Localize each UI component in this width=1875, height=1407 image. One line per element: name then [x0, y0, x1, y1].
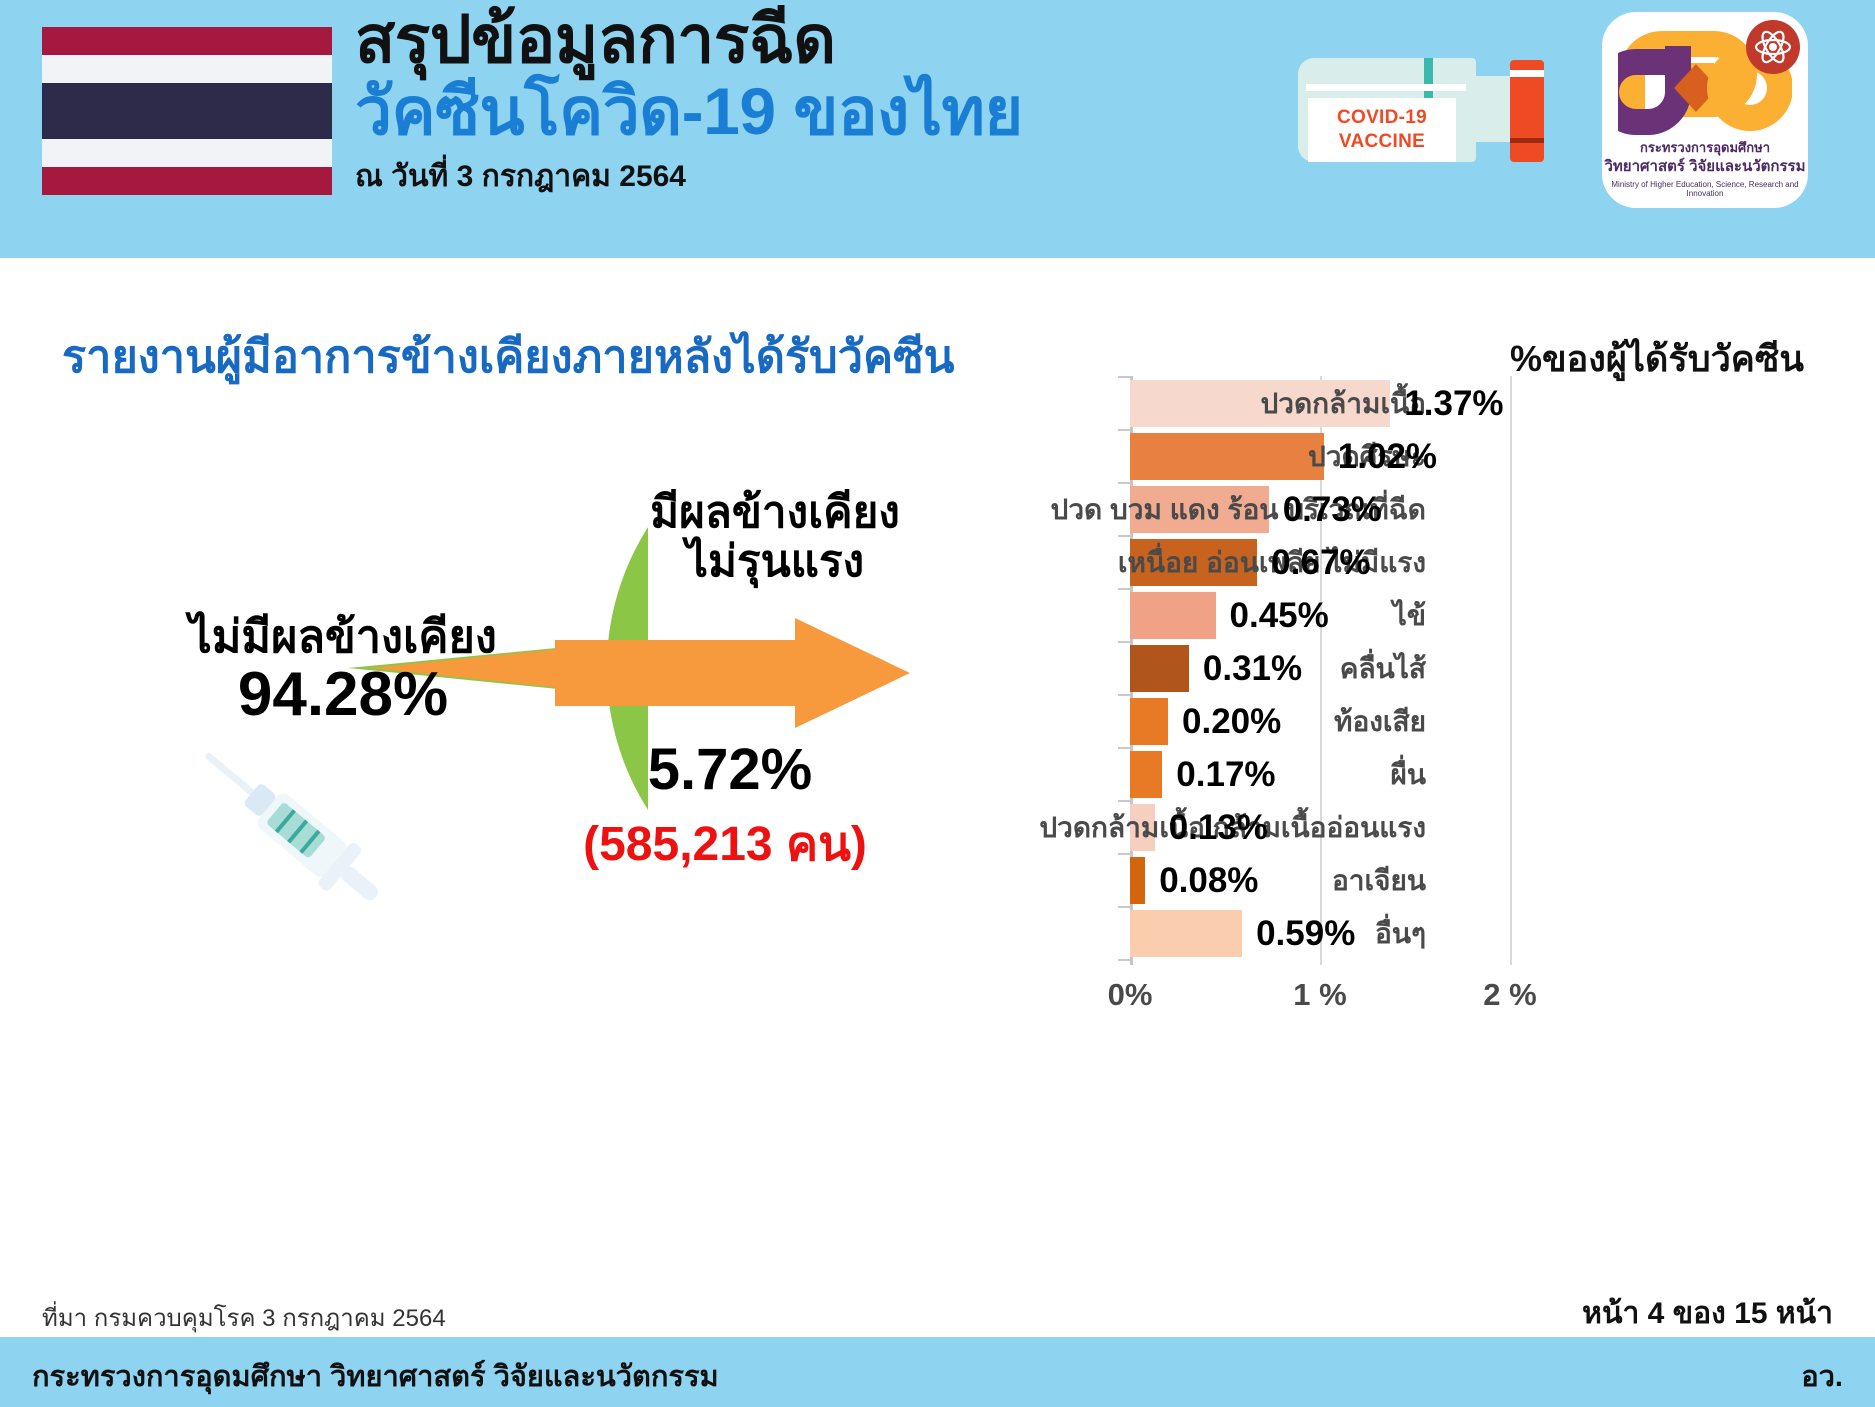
bar-category-label: ปวดกล้ามเนื้อ	[1261, 380, 1427, 427]
atom-icon	[1746, 20, 1800, 74]
bar-rect	[1130, 645, 1189, 692]
header-title-block: สรุปข้อมูลการฉีด วัคซีนโควิด-19 ของไทย ณ…	[355, 6, 1305, 200]
gridline	[1510, 376, 1512, 965]
side-effect-count: (585,213 คน)	[535, 806, 915, 882]
page-header: สรุปข้อมูลการฉีด วัคซีนโควิด-19 ของไทย ณ…	[0, 0, 1875, 258]
y-axis-tick	[1118, 853, 1130, 855]
bar-rect	[1130, 698, 1168, 745]
bar-value-label: 0.13%	[1169, 804, 1268, 851]
y-axis-tick	[1118, 429, 1130, 431]
vial-label-line1: COVID-19	[1337, 106, 1427, 130]
side-effect-label: มีผลข้างเคียง ไม่รุนแรง	[565, 488, 985, 587]
bar-rect	[1130, 433, 1324, 480]
y-axis-tick	[1118, 535, 1130, 537]
bar-value-label: 1.02%	[1338, 433, 1437, 480]
bar-rect	[1130, 592, 1216, 639]
bar-value-label: 0.67%	[1271, 539, 1370, 586]
section-heading: รายงานผู้มีอาการข้างเคียงภายหลังได้รับวั…	[62, 320, 954, 392]
bar-value-label: 0.17%	[1176, 751, 1275, 798]
y-axis-tick	[1118, 641, 1130, 643]
y-axis-tick	[1118, 959, 1130, 961]
footer-ministry-name: กระทรวงการอุดมศึกษา วิทยาศาสตร์ วิจัยและ…	[32, 1353, 719, 1399]
y-axis-tick	[1118, 588, 1130, 590]
bar-category-label: ท้องเสีย	[1334, 698, 1426, 745]
right-arrow-icon	[555, 618, 910, 728]
syringe-icon	[166, 728, 396, 928]
footer-bar: กระทรวงการอุดมศึกษา วิทยาศาสตร์ วิจัยและ…	[0, 1337, 1875, 1407]
page-number: หน้า 4 ของ 15 หน้า	[1582, 1290, 1833, 1337]
logo-thai-line1: กระทรวงการอุดมศึกษา	[1602, 140, 1808, 155]
page-title-line2: วัคซีนโควิด-19 ของไทย	[355, 77, 1305, 146]
main-content: รายงานผู้มีอาการข้างเคียงภายหลังได้รับวั…	[0, 258, 1875, 1278]
side-effect-callout: มีผลข้างเคียง ไม่รุนแรง 5.72% (585,213 ค…	[565, 488, 985, 587]
covid-vaccine-vial-icon: COVID-19 VACCINE	[1298, 40, 1558, 180]
bar-category-label: อื่นๆ	[1375, 910, 1426, 957]
bar-value-label: 0.20%	[1182, 698, 1281, 745]
bar-rect	[1130, 751, 1162, 798]
bar-category-label: ผื่น	[1390, 751, 1426, 798]
thai-flag-icon	[42, 27, 332, 195]
y-axis-tick	[1118, 747, 1130, 749]
pie-label-group: ไม่มีผลข้างเคียง 94.28%	[143, 613, 543, 727]
side-effect-label-line1: มีผลข้างเคียง	[565, 488, 985, 537]
logo-thai-line2: วิทยาศาสตร์ วิจัยและนวัตกรรม	[1602, 158, 1808, 176]
bar-value-label: 0.45%	[1230, 592, 1329, 639]
bar-value-label: 0.31%	[1203, 645, 1302, 692]
bar-value-label: 0.73%	[1283, 486, 1382, 533]
y-axis-tick	[1118, 906, 1130, 908]
page-title-line1: สรุปข้อมูลการฉีด	[355, 6, 1305, 73]
bar-category-label: อาเจียน	[1332, 857, 1426, 904]
ministry-logo: กระทรวงการอุดมศึกษา วิทยาศาสตร์ วิจัยและ…	[1602, 12, 1808, 208]
side-effect-label-line2: ไม่รุนแรง	[565, 537, 985, 586]
report-date: ณ วันที่ 3 กรกฎาคม 2564	[355, 153, 1305, 200]
source-note: ที่มา กรมควบคุมโรค 3 กรกฎาคม 2564	[42, 1298, 446, 1337]
bar-value-label: 1.37%	[1404, 380, 1503, 427]
bar-value-label: 0.08%	[1159, 857, 1258, 904]
footer-abbrev: อว.	[1801, 1353, 1843, 1399]
y-axis-tick	[1118, 482, 1130, 484]
bar-rect	[1130, 857, 1145, 904]
pie-no-side-effect-label: ไม่มีผลข้างเคียง	[143, 613, 543, 660]
logo-english-line: Ministry of Higher Education, Science, R…	[1602, 180, 1808, 198]
bar-category-label: ไข้	[1393, 592, 1426, 639]
y-axis-tick	[1118, 800, 1130, 802]
bar-rect	[1130, 910, 1242, 957]
x-axis-tick-label: 2 %	[1483, 977, 1536, 1013]
bar-category-label: คลื่นไส้	[1340, 645, 1426, 692]
side-effect-bar-chart: ปวดกล้ามเนื้อ1.37%ปวดศีรษะ1.02%ปวด บวม แ…	[1130, 376, 1830, 996]
y-axis-tick	[1118, 376, 1130, 378]
vial-label-line2: VACCINE	[1339, 130, 1425, 154]
bar-value-label: 0.59%	[1256, 910, 1355, 957]
x-axis-tick-label: 0%	[1108, 977, 1153, 1013]
y-axis-tick	[1118, 694, 1130, 696]
pie-no-side-effect-value: 94.28%	[143, 662, 543, 727]
x-axis-tick-label: 1 %	[1293, 977, 1346, 1013]
side-effect-percent: 5.72%	[565, 736, 895, 803]
bar-row	[1130, 645, 1510, 692]
